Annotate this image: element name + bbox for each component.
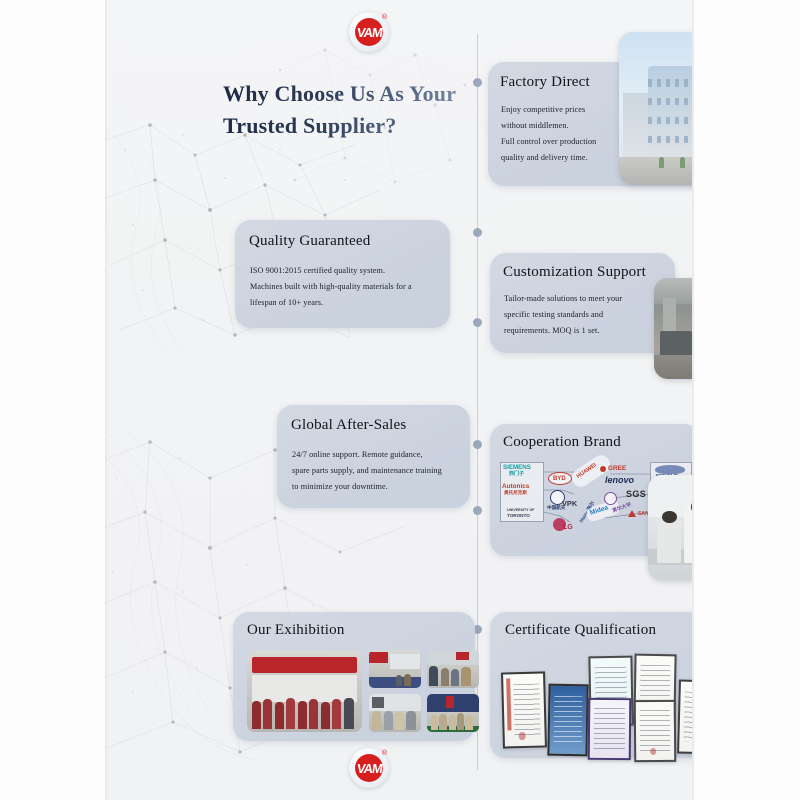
photo-factory-building[interactable]	[619, 32, 694, 185]
brand-logo-siemens-cn: 西门子	[509, 472, 524, 477]
customization-body-line2: specific testing standards and	[504, 307, 664, 323]
brand-logo-lg: LG	[563, 524, 573, 531]
vam-logo-icon-bottom: VAM ®	[355, 754, 383, 782]
photo-exhibition-2[interactable]	[427, 650, 479, 688]
aftersales-body-line3: to minimize your downtime.	[292, 479, 464, 495]
photo-exhibition-4[interactable]	[427, 694, 479, 732]
card-brand-title: Cooperation Brand	[503, 434, 621, 451]
brand-logo-byd: BYD	[553, 476, 566, 482]
quality-body-line2: Machines built with high-quality materia…	[250, 279, 440, 295]
card-aftersales-title: Global After-Sales	[291, 417, 406, 434]
card-global-after-sales[interactable]: Global After-Sales 24/7 online support. …	[277, 405, 470, 508]
poster-page: Why Choose Us As Your Trusted Supplier? …	[0, 0, 800, 800]
registered-mark-icon-bottom: ®	[382, 750, 387, 757]
aftersales-body-line1: 24/7 online support. Remote guidance,	[292, 447, 464, 463]
factory-body-line1: Enjoy competitive prices	[501, 102, 629, 118]
certificate-4	[588, 698, 632, 760]
card-quality-title: Quality Guaranteed	[249, 233, 370, 250]
factory-body-line2: without middlemen.	[501, 118, 629, 134]
card-exhibition-title: Our Exihibition	[247, 622, 345, 639]
card-aftersales-body: 24/7 online support. Remote guidance, sp…	[292, 447, 464, 495]
brand-logo-autonics-cn: 奥托尼克斯	[504, 491, 527, 496]
vam-logo-letters: VAM	[356, 26, 383, 39]
timeline-dot-5	[473, 506, 482, 515]
brand-logo-toronto: TORONTO	[507, 514, 530, 519]
content-panel: Why Choose Us As Your Trusted Supplier? …	[105, 0, 694, 800]
photo-workshop-interior[interactable]	[654, 278, 694, 379]
vam-logo-icon: VAM ®	[355, 18, 383, 46]
timeline-dot-2	[473, 228, 482, 237]
brand-logo-lenovo: lenovo	[605, 476, 634, 485]
brand-logo-gree: GREE	[608, 466, 626, 472]
card-factory-body: Enjoy competitive prices without middlem…	[501, 102, 629, 166]
certificate-7	[677, 679, 694, 754]
page-title-line1: Why Choose Us As Your	[223, 78, 493, 110]
brand-logo-vpk: VPK	[562, 500, 577, 507]
photo-certificates[interactable]	[500, 650, 694, 750]
brand-logo-tsinghua-ring	[604, 492, 617, 505]
brand-logo-gree-dot	[600, 466, 606, 472]
factory-body-line4: quality and delivery time.	[501, 150, 629, 166]
photo-exhibition-3[interactable]	[369, 694, 421, 732]
photo-exhibition-main[interactable]	[247, 650, 362, 732]
brand-logo-sgs: SGS	[626, 490, 646, 499]
page-title: Why Choose Us As Your Trusted Supplier?	[223, 78, 493, 142]
customization-body-line3: requirements. MOQ is 1 set.	[504, 323, 664, 339]
card-customization-support[interactable]: Customization Support Tailor-made soluti…	[490, 253, 675, 353]
certificate-2	[547, 684, 588, 757]
card-certificate-title: Certificate Qualification	[505, 622, 656, 639]
card-customization-title: Customization Support	[503, 264, 646, 281]
card-customization-body: Tailor-made solutions to meet your speci…	[504, 291, 664, 339]
certificate-1	[501, 671, 547, 748]
brand-badge-bottom[interactable]: VAM ®	[349, 748, 389, 788]
vam-logo-letters-bottom: VAM	[356, 762, 383, 775]
certificate-6	[634, 700, 677, 762]
timeline-dot-3	[473, 318, 482, 327]
card-our-exhibition[interactable]: Our Exihibition	[233, 612, 475, 741]
brand-badge-top[interactable]: VAM ®	[349, 12, 389, 52]
card-quality-guaranteed[interactable]: Quality Guaranteed ISO 9001:2015 certifi…	[235, 220, 450, 328]
photo-exhibition-1[interactable]	[369, 650, 421, 688]
page-title-line2: Trusted Supplier?	[223, 110, 493, 142]
photo-laboratory-visit[interactable]	[648, 475, 694, 580]
aftersales-body-line2: spare parts supply, and maintenance trai…	[292, 463, 464, 479]
card-factory-title: Factory Direct	[500, 74, 590, 91]
quality-body-line3: lifespan of 10+ years.	[250, 295, 440, 311]
quality-body-line1: ISO 9001:2015 certified quality system.	[250, 263, 440, 279]
timeline-dot-4	[473, 440, 482, 449]
factory-body-line3: Full control over production	[501, 134, 629, 150]
card-quality-body: ISO 9001:2015 certified quality system. …	[250, 263, 440, 311]
registered-mark-icon: ®	[382, 14, 387, 21]
card-certificate-qualification[interactable]: Certificate Qualification	[490, 612, 694, 758]
brand-logo-sany-mark	[628, 510, 636, 517]
customization-body-line1: Tailor-made solutions to meet your	[504, 291, 664, 307]
